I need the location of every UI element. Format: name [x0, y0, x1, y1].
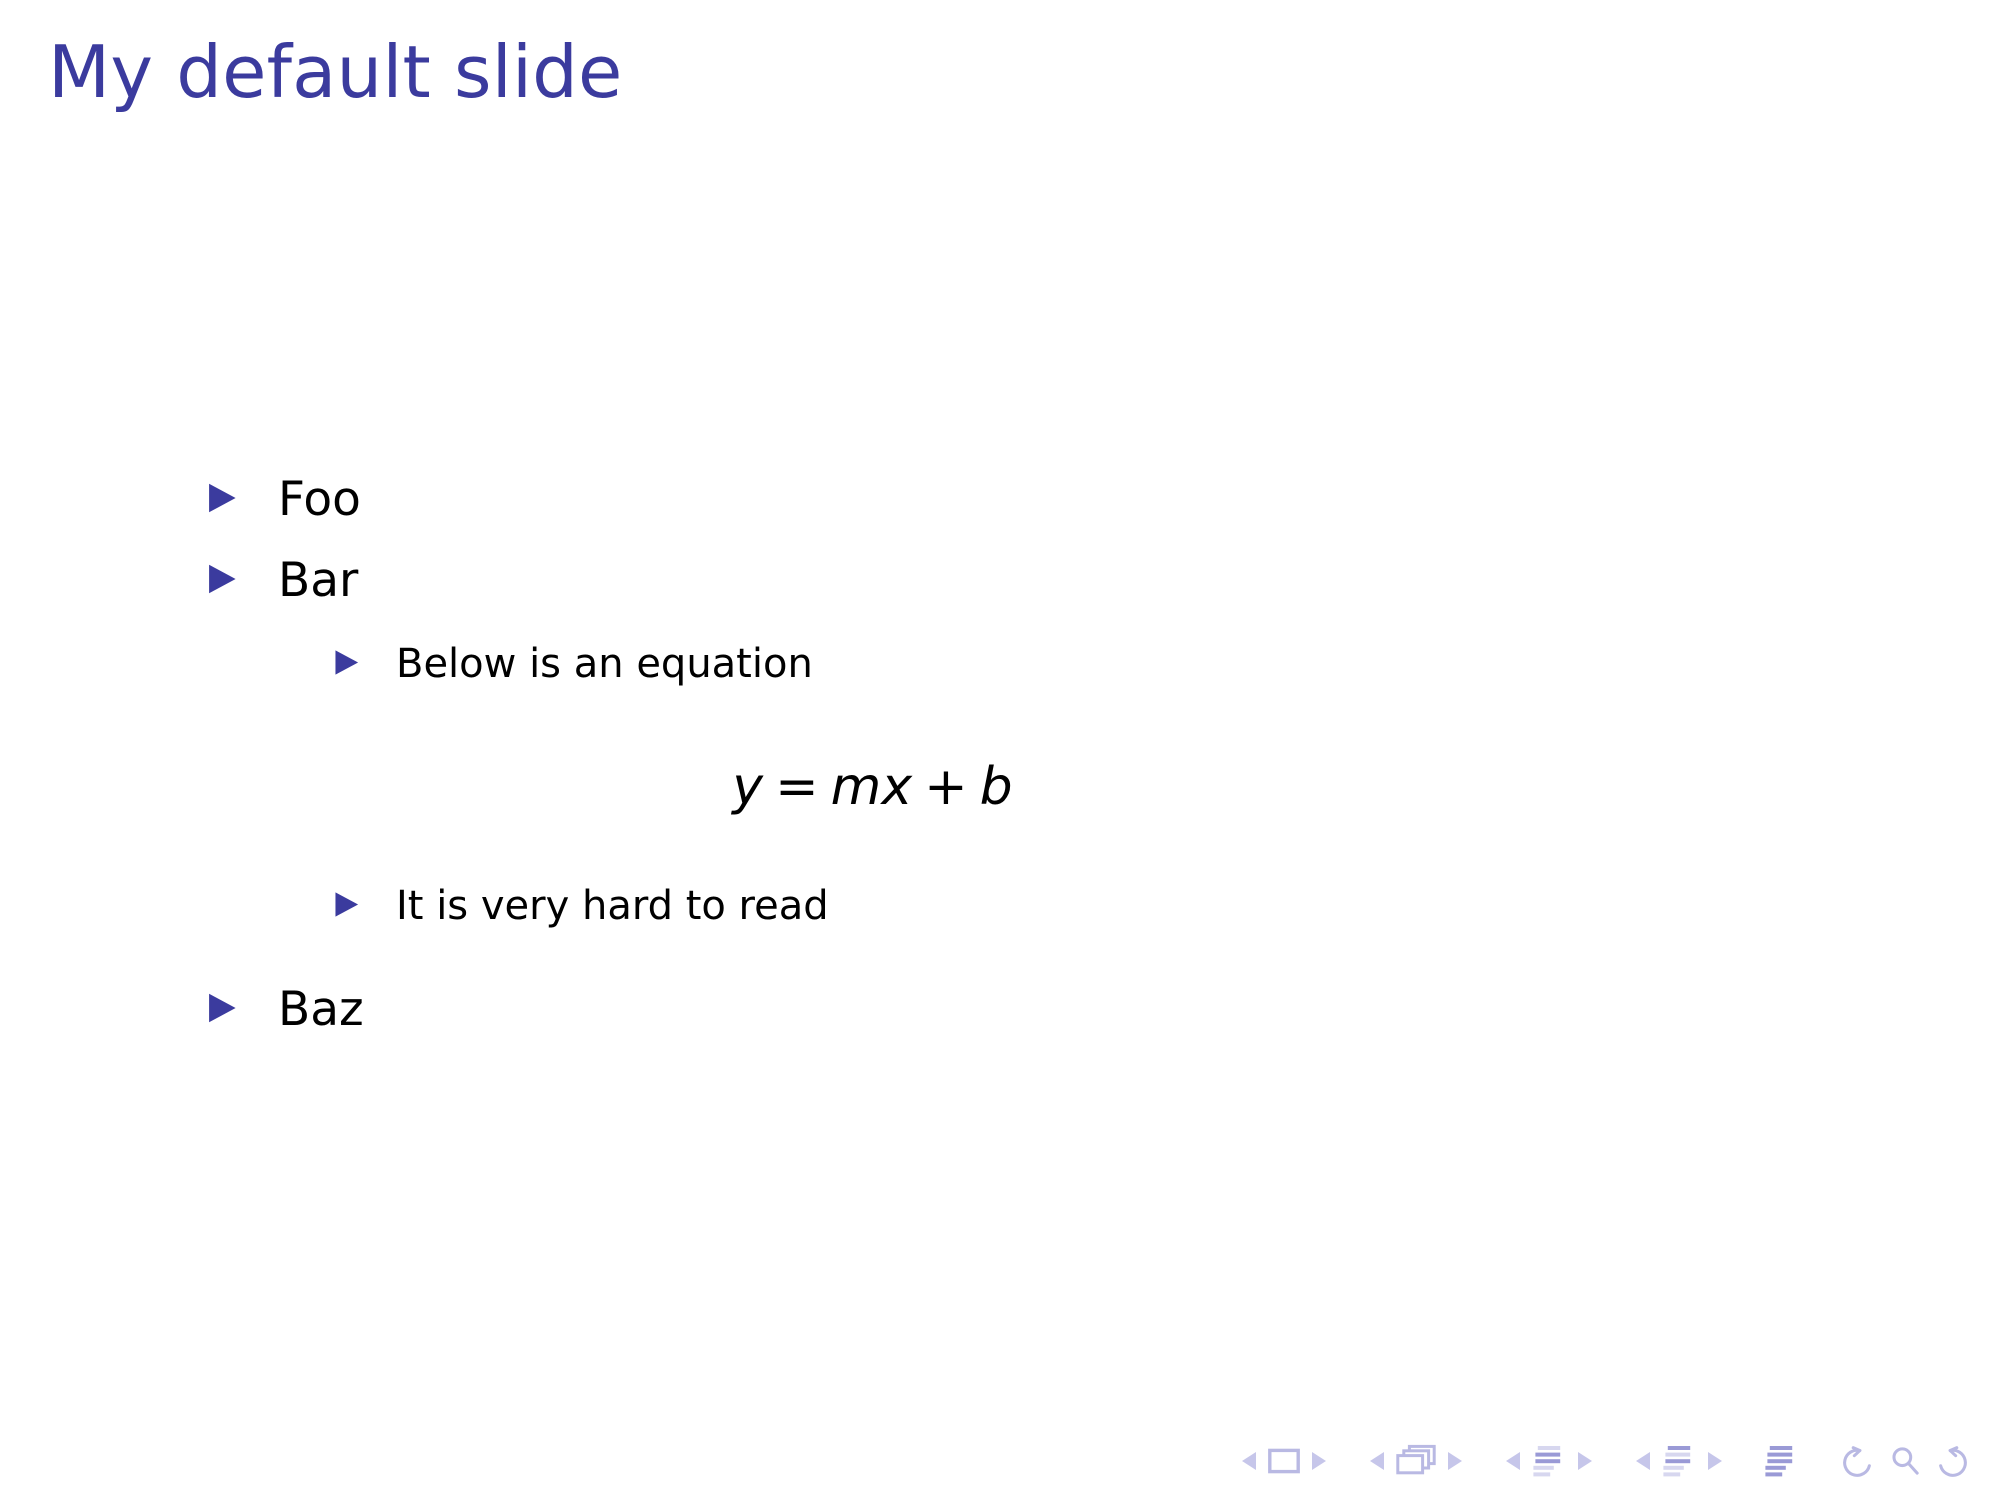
subsection-navigation-group — [1499, 1444, 1599, 1478]
list-item: Below is an equation — [332, 641, 813, 687]
triangle-right-bullet-icon — [205, 991, 251, 1025]
list-item-label: It is very hard to read — [372, 883, 829, 929]
equation-equals-sign: = — [763, 757, 831, 817]
slide-navigation-group — [1363, 1444, 1469, 1478]
beamer-navigation-bar — [1235, 1439, 1977, 1483]
stacked-frames-icon[interactable] — [1395, 1444, 1437, 1478]
section-lines-icon[interactable] — [1661, 1444, 1697, 1478]
list-item-label: Foo — [251, 472, 361, 527]
beamer-slide: My default slide Foo Bar Below is an equ… — [0, 0, 2015, 1511]
equation-lhs: y — [732, 757, 763, 817]
triangle-left-icon[interactable] — [1633, 1449, 1653, 1473]
list-item-label: Below is an equation — [372, 641, 813, 687]
triangle-right-icon[interactable] — [1309, 1449, 1329, 1473]
triangle-left-icon[interactable] — [1239, 1449, 1259, 1473]
document-lines-icon[interactable] — [1763, 1444, 1799, 1478]
triangle-right-bullet-icon — [332, 890, 372, 919]
triangle-right-bullet-icon — [205, 481, 251, 515]
equation-plus-sign: + — [912, 757, 980, 817]
display-equation: y=mx+b — [0, 757, 1745, 817]
equation-slope: m — [831, 757, 882, 817]
triangle-left-icon[interactable] — [1503, 1449, 1523, 1473]
triangle-right-icon[interactable] — [1705, 1449, 1725, 1473]
triangle-right-bullet-icon — [205, 562, 251, 596]
triangle-right-bullet-icon — [332, 648, 372, 677]
undo-arrow-icon[interactable] — [1837, 1442, 1877, 1480]
history-navigation-group — [1833, 1442, 1977, 1480]
list-item: Foo — [205, 472, 361, 527]
triangle-right-icon[interactable] — [1575, 1449, 1595, 1473]
triangle-right-icon[interactable] — [1445, 1449, 1465, 1473]
redo-arrow-icon[interactable] — [1933, 1442, 1973, 1480]
equation-intercept: b — [980, 757, 1013, 817]
list-item: Baz — [205, 982, 364, 1037]
triangle-left-icon[interactable] — [1367, 1449, 1387, 1473]
list-item: It is very hard to read — [332, 883, 829, 929]
frame-square-icon[interactable] — [1267, 1446, 1301, 1476]
subsection-lines-icon[interactable] — [1531, 1444, 1567, 1478]
slide-body: Foo Bar Below is an equation It is very … — [0, 0, 2015, 1511]
presentation-navigation-group — [1759, 1444, 1803, 1478]
equation-variable-x: x — [881, 757, 912, 817]
list-item-label: Baz — [251, 982, 364, 1037]
frame-navigation-group — [1235, 1446, 1333, 1476]
list-item: Bar — [205, 553, 358, 608]
list-item-label: Bar — [251, 553, 358, 608]
section-navigation-group — [1629, 1444, 1729, 1478]
search-icon[interactable] — [1885, 1442, 1925, 1480]
